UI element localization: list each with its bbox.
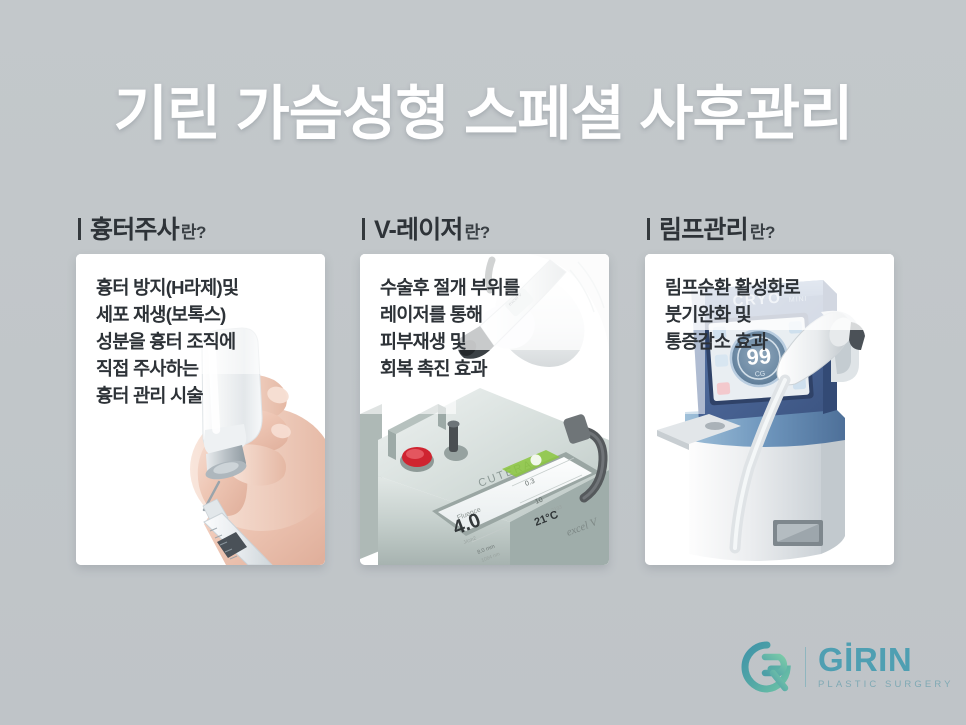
info-column-lymph-care: 림프관리 란? <box>645 210 894 565</box>
card-heading-main-2: V-레이저 <box>374 210 463 246</box>
card-body-line: 레이저를 통해 <box>380 301 599 328</box>
card-body-line: 통증감소 효과 <box>665 328 884 355</box>
card-heading-1: 흉터주사 란? <box>76 210 325 254</box>
card-body-line: 세포 재생(보톡스) <box>96 301 315 328</box>
info-card-1: 흉터 방지(H라제)및 세포 재생(보톡스) 성분을 흉터 조직에 직접 주사하… <box>76 254 325 565</box>
logo-brand-name: GİRIN <box>818 643 954 677</box>
heading-accent-bar-icon <box>78 218 81 240</box>
card-body-line: 성분을 흉터 조직에 <box>96 328 315 355</box>
info-column-scar-injection: 흉터주사 란? <box>76 210 325 565</box>
card-heading-main-1: 흉터주사 <box>90 210 179 246</box>
card-heading-2: V-레이저 란? <box>360 210 609 254</box>
card-body-line: 수술후 절개 부위를 <box>380 274 599 301</box>
card-body-line: 피부재생 및 <box>380 328 599 355</box>
card-heading-3: 림프관리 란? <box>645 210 894 254</box>
card-body-line: 회복 촉진 효과 <box>380 355 599 382</box>
card-heading-suffix-1: 란? <box>181 218 206 243</box>
page-title: 기린 가슴성형 스페셜 사후관리 <box>0 78 966 150</box>
logo-text-block: GİRIN PLASTIC SURGERY <box>818 643 954 691</box>
logo-divider <box>805 647 806 687</box>
poster-canvas: 기린 가슴성형 스페셜 사후관리 흉터주사 란? <box>0 0 966 725</box>
card-body-line: 림프순환 활성화로 <box>665 274 884 301</box>
card-heading-main-3: 림프관리 <box>659 210 748 246</box>
card-body-line: 직접 주사하는 <box>96 355 315 382</box>
heading-accent-bar-icon <box>362 218 365 240</box>
card-body-line: 흉터 관리 시술 <box>96 382 315 409</box>
info-column-v-laser: V-레이저 란? <box>360 210 609 565</box>
info-card-2: CUTERA Fluence 4.0 J/cm2 0.3 10 2193 21°… <box>360 254 609 565</box>
card-body-line: 흉터 방지(H라제)및 <box>96 274 315 301</box>
card-body-2: 수술후 절개 부위를 레이저를 통해 피부재생 및 회복 촉진 효과 <box>380 274 599 382</box>
gr-monogram-icon <box>735 639 799 695</box>
card-heading-suffix-2: 란? <box>465 218 490 243</box>
heading-accent-bar-icon <box>647 218 650 240</box>
info-card-3: CRYO MINI 99 CG <box>645 254 894 565</box>
svg-text:CG: CG <box>755 371 766 379</box>
brand-logo: GİRIN PLASTIC SURGERY <box>735 636 935 698</box>
card-heading-suffix-3: 란? <box>750 218 775 243</box>
logo-tagline: PLASTIC SURGERY <box>818 678 954 691</box>
card-body-1: 흉터 방지(H라제)및 세포 재생(보톡스) 성분을 흉터 조직에 직접 주사하… <box>96 274 315 409</box>
card-body-3: 림프순환 활성화로 붓기완화 및 통증감소 효과 <box>665 274 884 355</box>
card-body-line: 붓기완화 및 <box>665 301 884 328</box>
